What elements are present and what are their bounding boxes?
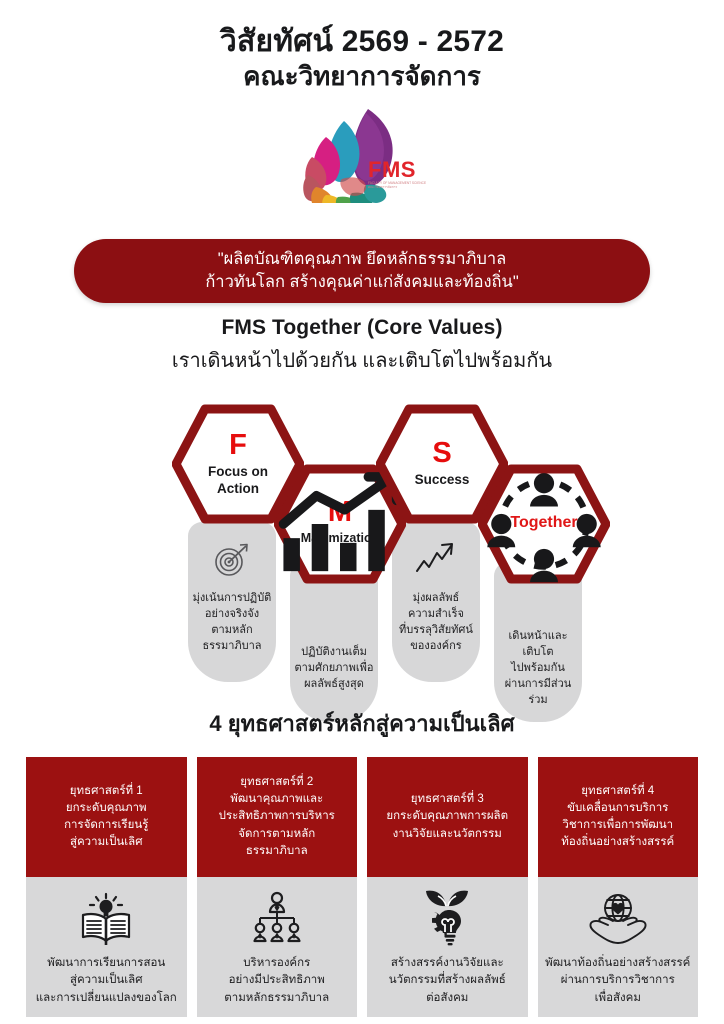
vision-banner: "ผลิตบัณฑิตคุณภาพ ยึดหลักธรรมาภิบาล ก้าว… — [74, 239, 650, 303]
value-card-focus: มุ่งเน้นการปฏิบัติ อย่างจริงจัง ตามหลัก … — [188, 522, 276, 682]
core-values-heading: FMS Together (Core Values) เราเดินหน้าไป… — [0, 316, 724, 376]
strategy-title: ยุทธศาสตร์ที่ 4 ขับเคลื่อนการบริการ วิชา… — [538, 757, 699, 877]
strategy-column-1[interactable]: ยุทธศาสตร์ที่ 1 ยกระดับคุณภาพ การจัดการเ… — [26, 757, 187, 1017]
value-card-text: ปฏิบัติงานเต็ม ตามศักยภาพเพื่อ ผลลัพธ์สู… — [291, 644, 378, 706]
strategy-column-2[interactable]: ยุทธศาสตร์ที่ 2 พัฒนาคุณภาพและ ประสิทธิภ… — [197, 757, 358, 1017]
hexagon-letter: S — [432, 439, 451, 468]
target-arrow-icon — [212, 538, 252, 582]
strategy-description: พัฒนาท้องถิ่นอย่างสร้างสรรค์ ผ่านการบริก… — [545, 955, 690, 1007]
strategy-title: ยุทธศาสตร์ที่ 1 ยกระดับคุณภาพ การจัดการเ… — [26, 757, 187, 877]
core-values-diagram: มุ่งเน้นการปฏิบัติ อย่างจริงจัง ตามหลัก … — [0, 404, 724, 694]
strategy-body: พัฒนาท้องถิ่นอย่างสร้างสรรค์ ผ่านการบริก… — [538, 877, 699, 1017]
page-title: วิสัยทัศน์ 2569 - 2572 — [0, 24, 724, 59]
strategies-heading: 4 ยุทธศาสตร์หลักสู่ความเป็นเลิศ — [0, 706, 724, 741]
page-subtitle: คณะวิทยาการจัดการ — [0, 61, 724, 92]
strategies-grid: ยุทธศาสตร์ที่ 1 ยกระดับคุณภาพ การจัดการเ… — [26, 757, 698, 1012]
hexagon-label: Focus on Action — [208, 464, 268, 497]
lightbulb-leaf-gear-icon — [416, 889, 478, 947]
book-lightbulb-icon — [77, 889, 135, 947]
strategy-description: พัฒนาการเรียนการสอน สู่ความเป็นเลิศ และก… — [36, 955, 177, 1007]
value-card-maximization: ปฏิบัติงานเต็ม ตามศักยภาพเพื่อ ผลลัพธ์สู… — [290, 562, 378, 722]
core-values-title: FMS Together (Core Values) — [0, 316, 724, 340]
strategy-body: สร้างสรรค์งานวิจัยและ นวัตกรรมที่สร้างผล… — [367, 877, 528, 1017]
core-values-subtitle: เราเดินหน้าไปด้วยกัน และเติบโตไปพร้อมกัน — [0, 344, 724, 376]
hexagon-together[interactable]: Together — [478, 464, 610, 584]
value-card-text: มุ่งเน้นการปฏิบัติ อย่างจริงจัง ตามหลัก … — [189, 590, 276, 668]
org-chart-icon — [248, 889, 306, 947]
strategy-description: บริหารองค์กร อย่างมีประสิทธิภาพ ตามหลักธ… — [224, 955, 329, 1007]
value-card-text: มุ่งผลลัพธ์ ความสำเร็จ ที่บรรลุวิสัยทัศน… — [395, 590, 477, 668]
strategy-description: สร้างสรรค์งานวิจัยและ นวัตกรรมที่สร้างผล… — [389, 955, 506, 1007]
svg-text:คณะวิทยาการจัดการ: คณะวิทยาการจัดการ — [368, 185, 397, 189]
infographic-page: วิสัยทัศน์ 2569 - 2572 คณะวิทยาการจัดการ — [0, 0, 724, 1024]
page-header: วิสัยทัศน์ 2569 - 2572 คณะวิทยาการจัดการ — [0, 0, 724, 203]
strategy-title: ยุทธศาสตร์ที่ 3 ยกระดับคุณภาพการผลิต งาน… — [367, 757, 528, 877]
strategy-column-4[interactable]: ยุทธศาสตร์ที่ 4 ขับเคลื่อนการบริการ วิชา… — [538, 757, 699, 1017]
strategy-body: บริหารองค์กร อย่างมีประสิทธิภาพ ตามหลักธ… — [197, 877, 358, 1017]
strategy-title: ยุทธศาสตร์ที่ 2 พัฒนาคุณภาพและ ประสิทธิภ… — [197, 757, 358, 877]
strategy-column-3[interactable]: ยุทธศาสตร์ที่ 3 ยกระดับคุณภาพการผลิต งาน… — [367, 757, 528, 1017]
hands-globe-heart-icon — [587, 889, 649, 947]
fms-logo: FMS FACULTY OF MANAGEMENT SCIENCE คณะวิท… — [296, 99, 428, 203]
svg-text:FMS: FMS — [368, 157, 416, 182]
strategy-body: พัฒนาการเรียนการสอน สู่ความเป็นเลิศ และก… — [26, 877, 187, 1017]
vision-banner-text: "ผลิตบัณฑิตคุณภาพ ยึดหลักธรรมาภิบาล ก้าว… — [179, 248, 544, 295]
hexagon-letter: F — [229, 431, 247, 460]
hexagon-label: Success — [415, 472, 470, 488]
fms-logo-icon: FMS FACULTY OF MANAGEMENT SCIENCE คณะวิท… — [296, 99, 428, 203]
upward-arrow-icon — [414, 538, 458, 582]
value-card-together: เดินหน้าและเติบโต ไปพร้อมกัน ผ่านการมีส่… — [494, 562, 582, 722]
